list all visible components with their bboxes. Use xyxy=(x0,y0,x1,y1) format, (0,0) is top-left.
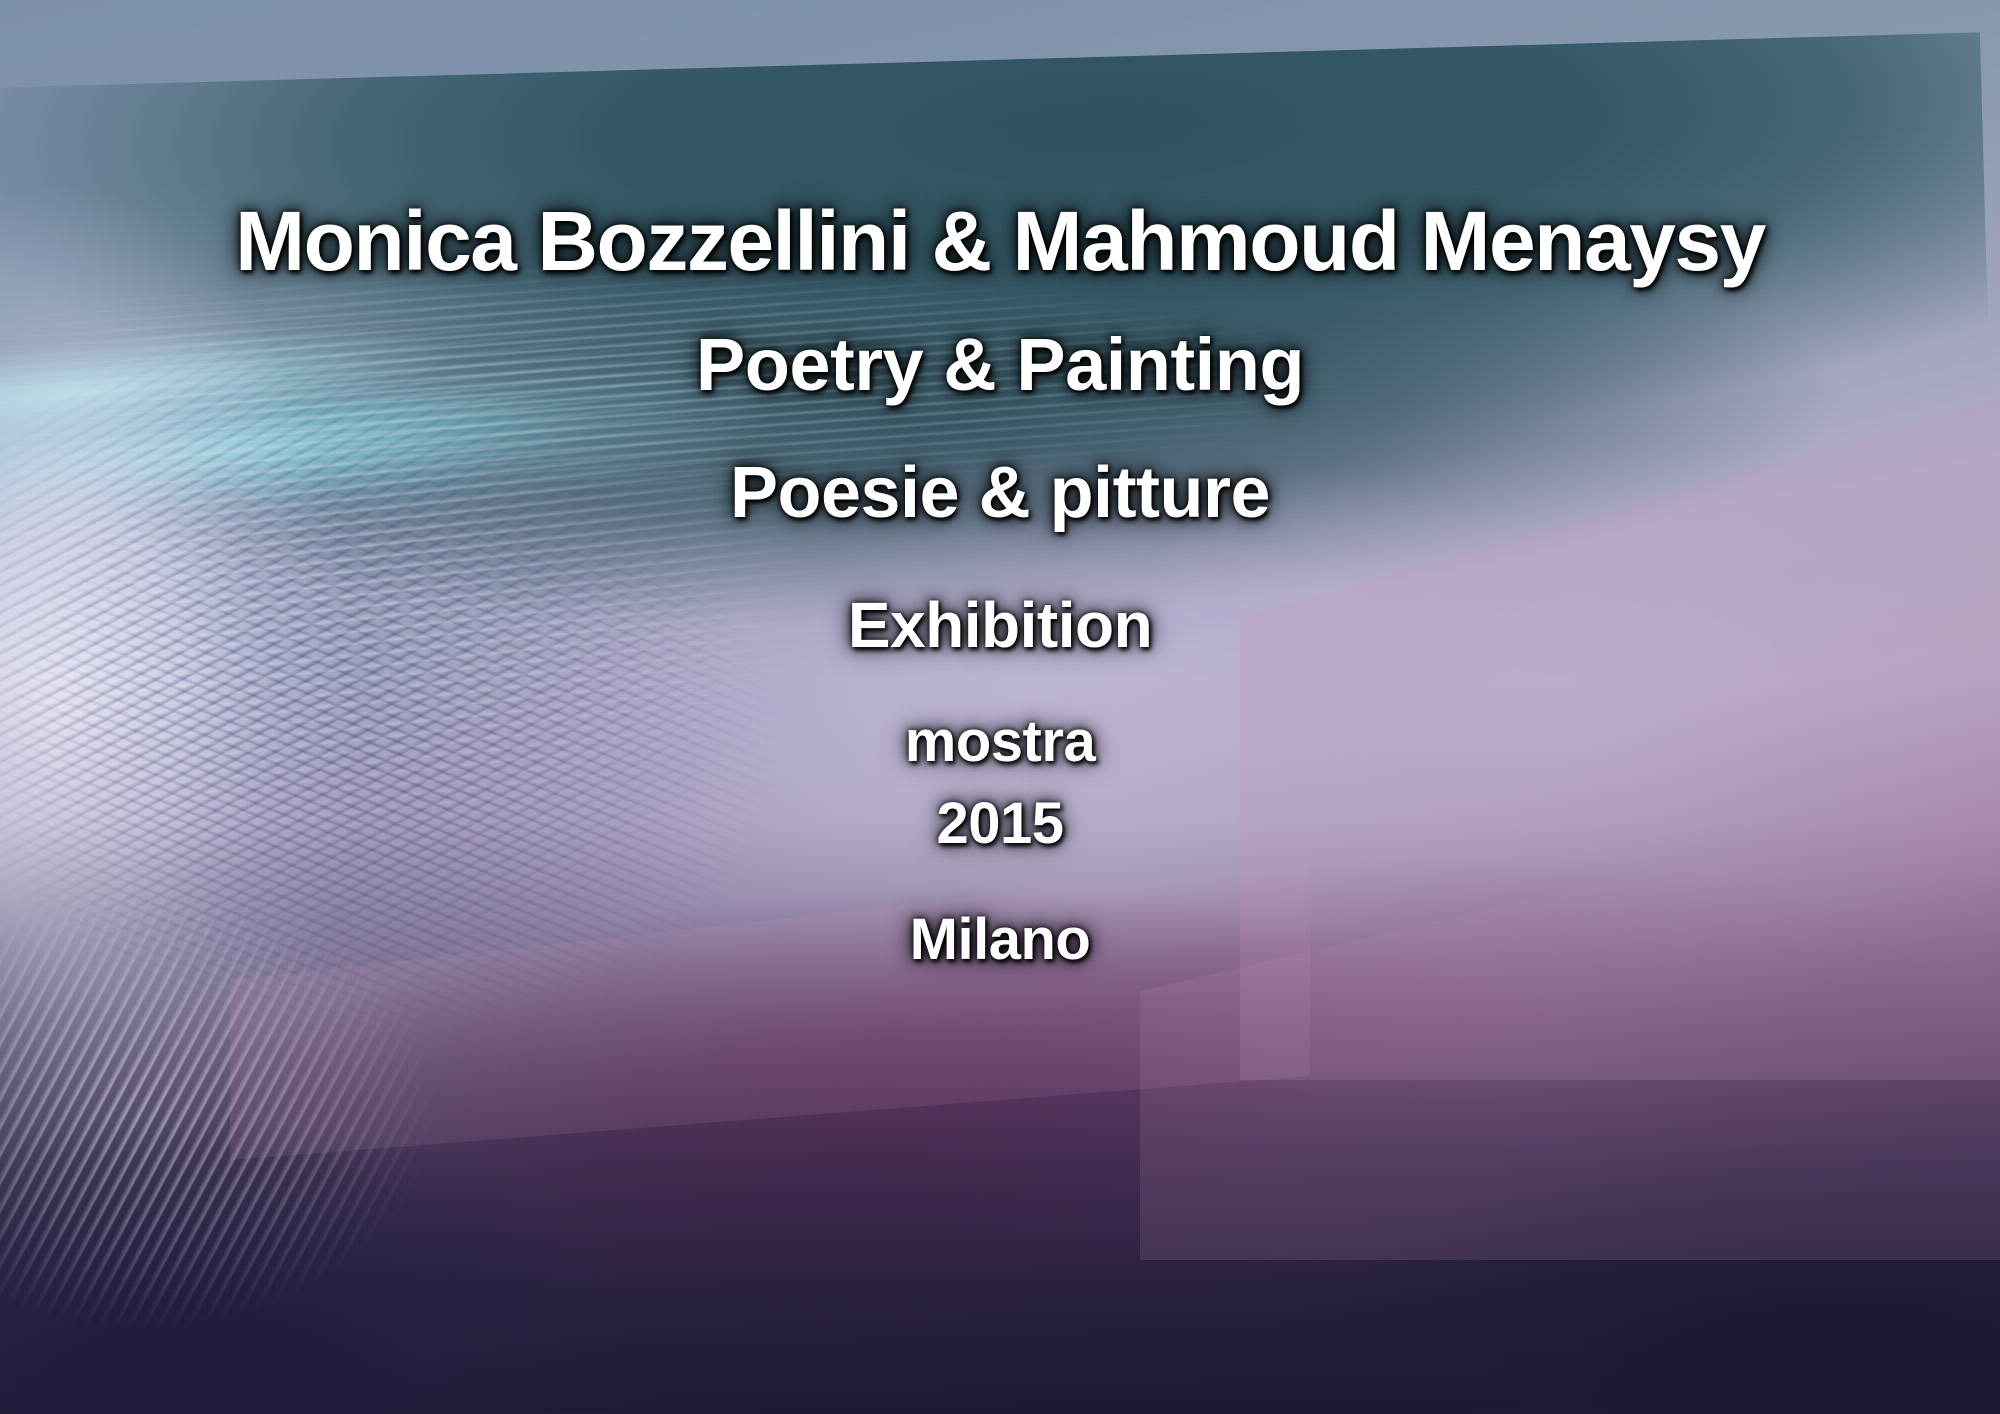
exhibition-poster: Monica Bozzellini & Mahmoud Menaysy Poet… xyxy=(0,0,2000,1414)
poster-event-type-english: Exhibition xyxy=(0,588,2000,662)
poster-text-block: Monica Bozzellini & Mahmoud Menaysy Poet… xyxy=(0,0,2000,1414)
poster-artists-title: Monica Bozzellini & Mahmoud Menaysy xyxy=(0,193,2000,290)
poster-subject-english: Poetry & Painting xyxy=(0,322,2000,407)
poster-subject-italian: Poesie & pitture xyxy=(0,452,2000,534)
poster-year: 2015 xyxy=(0,790,2000,857)
poster-city: Milano xyxy=(0,906,2000,973)
poster-event-type-italian: mostra xyxy=(0,708,2000,775)
